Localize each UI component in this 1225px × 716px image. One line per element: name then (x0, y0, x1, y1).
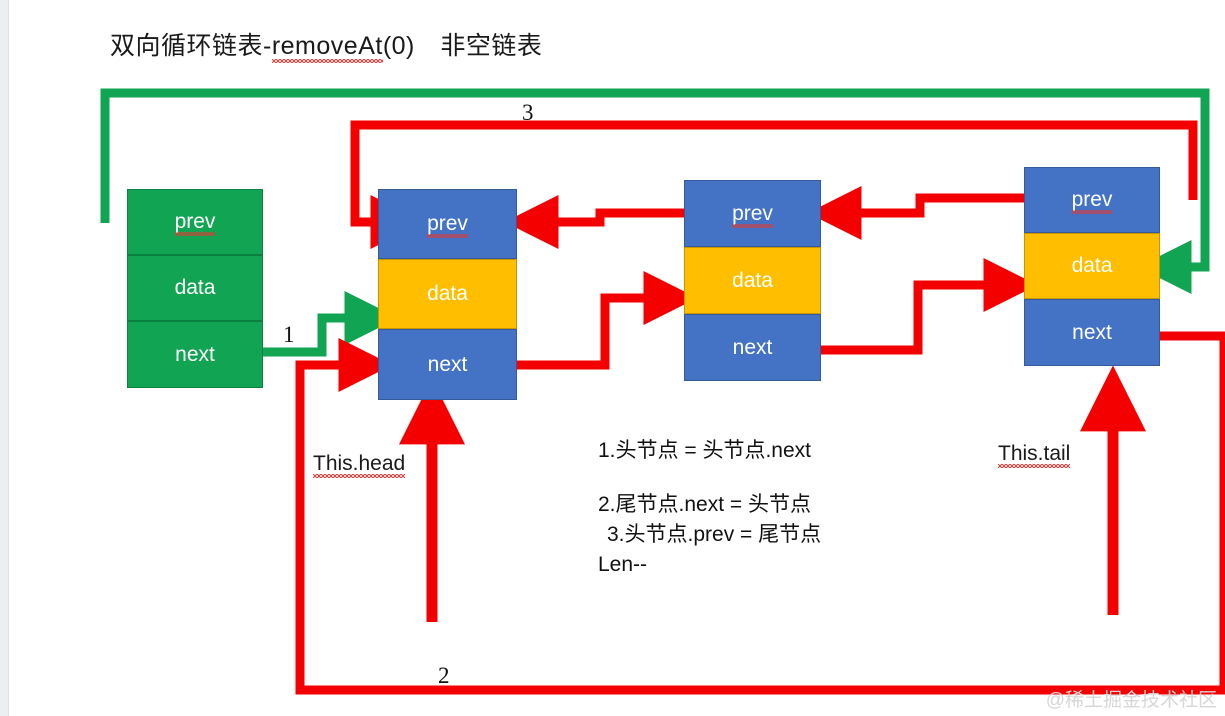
node-2[interactable]: prev data next (684, 180, 821, 381)
node-2-cell-data: data (684, 247, 821, 314)
steps-legend: 1.头节点 = 头节点.next 2.尾节点.next = 头节点 3.头节点.… (598, 440, 821, 590)
cell-label: prev (1072, 188, 1113, 212)
title-prefix: 双向循环链表- (110, 32, 272, 60)
cell-label: data (175, 276, 216, 300)
cell-label: prev (427, 212, 468, 236)
cell-label: next (1072, 321, 1112, 345)
cell-label: data (732, 269, 773, 293)
cell-label: prev (175, 210, 216, 234)
node-2-cell-prev: prev (684, 180, 821, 247)
legend-line-2: 2.尾节点.next = 头节点 (598, 494, 821, 516)
this-head-text: This.head (313, 452, 405, 476)
this-head-label: This.head (313, 452, 405, 476)
node-head-old-cell-data: data (127, 255, 263, 321)
node-1-cell-data: data (378, 259, 517, 329)
node-1-cell-prev: prev (378, 189, 517, 259)
legend-line-4: Len-- (598, 554, 821, 576)
legend-line-1: 1.头节点 = 头节点.next (598, 440, 821, 462)
step-marker-1: 1 (283, 322, 295, 348)
left-gutter-strip (0, 0, 9, 716)
watermark: @稀土掘金技术社区 (1046, 685, 1217, 712)
diagram-canvas: 双向循环链表-removeAt(0) 非空链表 (0, 0, 1225, 716)
step-marker-3: 3 (522, 100, 534, 126)
red-arrow-node2-next-to-node3 (821, 285, 1005, 350)
legend-line-3-text: 3.头节点.prev = 尾节点 (607, 523, 821, 546)
title-suffix: (0) 非空链表 (383, 32, 543, 60)
node-tail-cell-data: data (1024, 233, 1160, 299)
red-arrow-node1-next-to-node2 (517, 298, 665, 365)
cell-label: next (733, 336, 773, 360)
node-head-old-cell-next: next (127, 321, 263, 388)
this-tail-text: This.tail (998, 442, 1070, 466)
title-misspelled-word: removeAt (272, 32, 383, 61)
node-2-cell-next: next (684, 314, 821, 381)
green-arrow-step-1 (262, 318, 366, 352)
node-tail[interactable]: prev data next (1024, 167, 1160, 366)
step-marker-2: 2 (438, 663, 450, 689)
node-head-old[interactable]: prev data next (127, 189, 263, 388)
node-tail-cell-prev: prev (1024, 167, 1160, 233)
cell-label: next (175, 343, 215, 367)
node-tail-cell-next: next (1024, 299, 1160, 366)
page-title: 双向循环链表-removeAt(0) 非空链表 (110, 26, 542, 62)
cell-label: next (428, 353, 468, 377)
node-head-old-cell-prev: prev (127, 189, 263, 255)
cell-label: data (427, 282, 468, 306)
cell-label: prev (732, 202, 773, 226)
this-tail-label: This.tail (998, 442, 1070, 466)
red-arrow-node3-prev-to-node2 (840, 198, 1024, 213)
cell-label: data (1072, 254, 1113, 278)
node-1[interactable]: prev data next (378, 189, 517, 400)
node-1-cell-next: next (378, 329, 517, 400)
red-arrow-node2-prev-to-node1 (537, 213, 684, 222)
legend-line-3: 3.头节点.prev = 尾节点 (598, 524, 821, 546)
